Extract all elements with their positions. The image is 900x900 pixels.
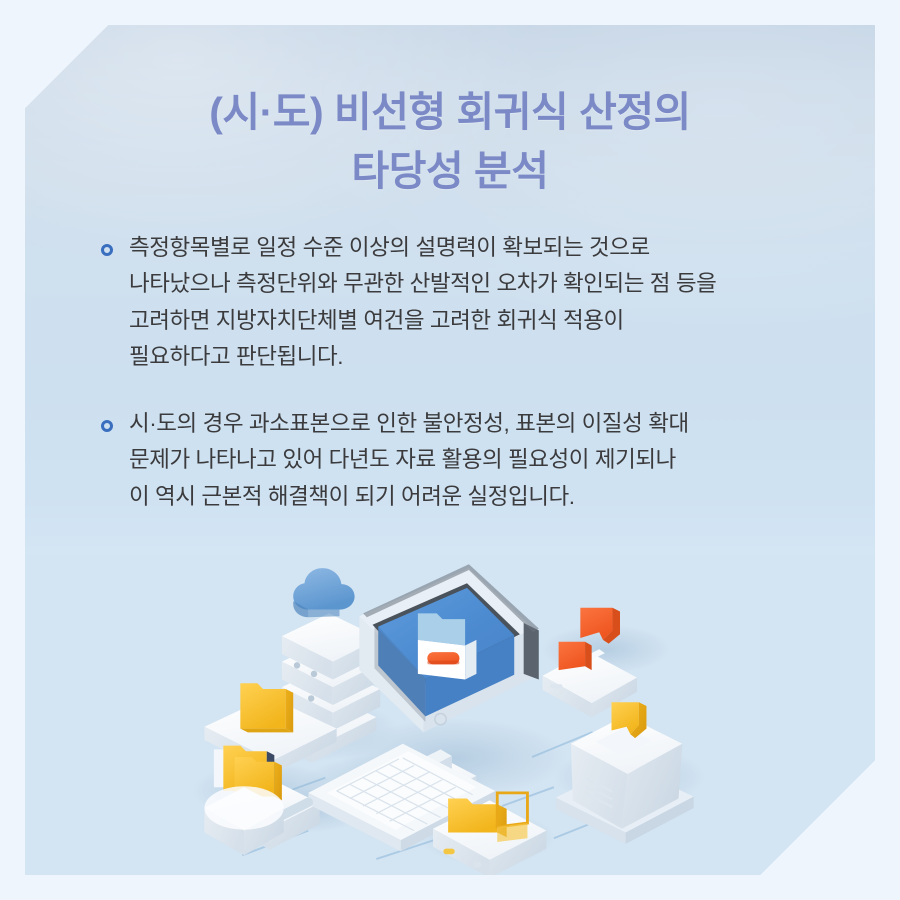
bullet-list: 측정항목별로 일정 수준 이상의 설명력이 확보되는 것으로 나타났으나 측정단… — [73, 230, 835, 515]
ring-bullet-icon — [101, 244, 113, 256]
slide-canvas: (시·도) 비선형 회귀식 산정의 타당성 분석 측정항목별로 일정 수준 이상… — [0, 0, 900, 900]
bullet-text: 시·도의 경우 과소표본으로 인한 불안정성, 표본의 이질성 확대 문제가 나… — [129, 406, 835, 515]
list-item: 시·도의 경우 과소표본으로 인한 불안정성, 표본의 이질성 확대 문제가 나… — [73, 406, 835, 515]
page-title: (시·도) 비선형 회귀식 산정의 타당성 분석 — [25, 83, 875, 202]
ring-bullet-icon — [101, 420, 113, 432]
cloud-data-network-isometric-illustration — [25, 545, 875, 875]
list-item: 측정항목별로 일정 수준 이상의 설명력이 확보되는 것으로 나타났으나 측정단… — [73, 230, 835, 376]
page-number: 05 — [827, 827, 847, 847]
title-line-1: (시·도) 비선형 회귀식 산정의 — [25, 83, 875, 142]
progress-bar-icon — [427, 652, 459, 664]
slide-card: (시·도) 비선형 회귀식 산정의 타당성 분석 측정항목별로 일정 수준 이상… — [25, 25, 875, 875]
bullet-text: 측정항목별로 일정 수준 이상의 설명력이 확보되는 것으로 나타났으나 측정단… — [129, 230, 835, 376]
title-line-2: 타당성 분석 — [25, 142, 875, 201]
folder-icon — [240, 683, 293, 732]
status-led-icon — [443, 849, 454, 855]
